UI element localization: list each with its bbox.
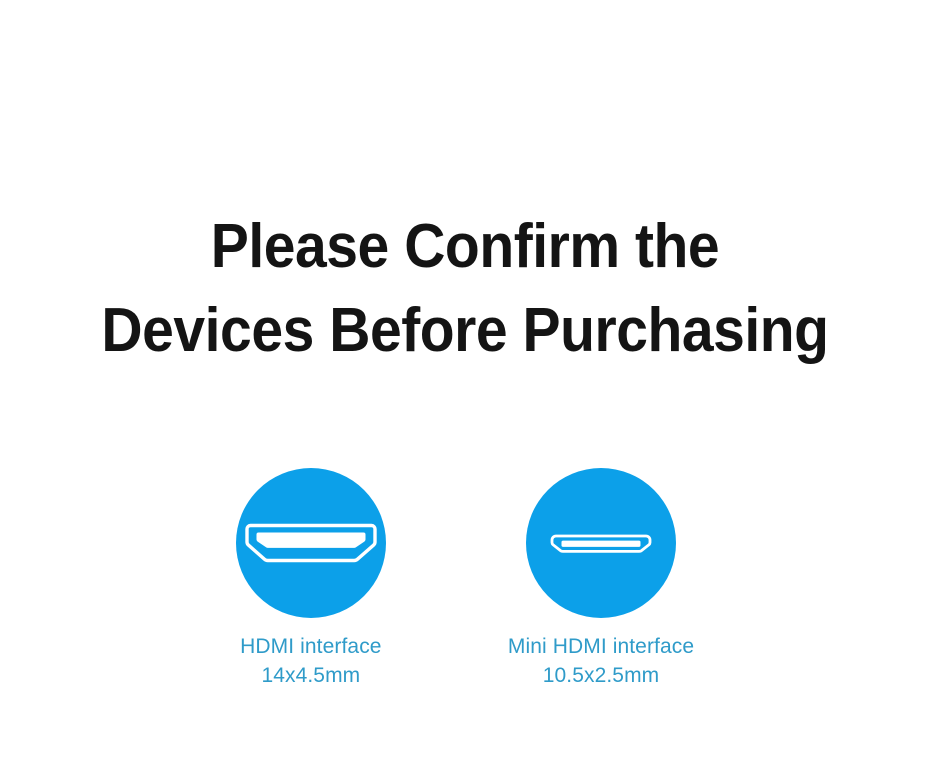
hdmi-icon-circle: [236, 468, 386, 618]
mini-hdmi-caption-dimensions: 10.5x2.5mm: [508, 661, 694, 690]
page-title: Please Confirm the Devices Before Purcha…: [37, 205, 893, 373]
hdmi-port-icon: [244, 519, 378, 567]
mini-hdmi-port-icon: [547, 525, 655, 561]
hdmi-caption-name: HDMI interface: [240, 632, 381, 661]
device-item-mini-hdmi: Mini HDMI interface 10.5x2.5mm: [508, 468, 694, 690]
page-title-line-2: Devices Before Purchasing: [37, 289, 893, 373]
page-title-line-1: Please Confirm the: [37, 205, 893, 289]
device-item-hdmi: HDMI interface 14x4.5mm: [236, 468, 386, 690]
hdmi-caption: HDMI interface 14x4.5mm: [240, 632, 381, 690]
hdmi-caption-dimensions: 14x4.5mm: [240, 661, 381, 690]
mini-hdmi-caption-name: Mini HDMI interface: [508, 632, 694, 661]
device-icon-row: HDMI interface 14x4.5mm Mini HDMI interf…: [0, 468, 930, 690]
mini-hdmi-icon-circle: [526, 468, 676, 618]
mini-hdmi-caption: Mini HDMI interface 10.5x2.5mm: [508, 632, 694, 690]
product-infographic-page: Please Confirm the Devices Before Purcha…: [0, 0, 930, 774]
